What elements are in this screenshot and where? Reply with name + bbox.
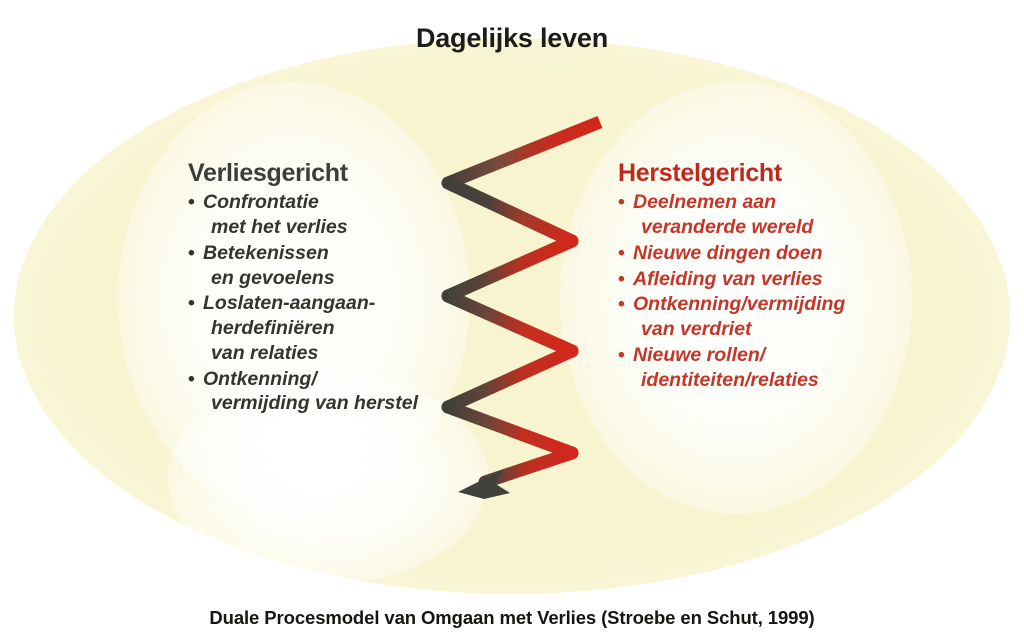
restoration-oriented-list: Deelnemen aan veranderde wereld Nieuwe d… [618,190,878,392]
list-item: Loslaten-aangaan- herdefiniëren van rela… [188,291,438,365]
list-item: Nieuwe dingen doen [618,241,878,266]
diagram-canvas: Dagelijks leven Verliesgericht Confronta… [0,0,1024,636]
bullet-line-2: identiteiten/relaties [633,368,878,393]
list-item: Ontkenning/vermijding van verdriet [618,292,878,342]
arrow-segment-7 [485,453,572,482]
restoration-oriented-heading: Herstelgericht [618,160,878,186]
arrow-segment-2 [448,183,572,241]
list-item: Betekenissen en gevoelens [188,241,438,291]
list-item: Afleiding van verlies [618,267,878,292]
list-item: Ontkenning/ vermijding van herstel [188,367,438,417]
bullet-line-2: vermijding van herstel [203,391,438,416]
bullet-line-2: met het verlies [203,215,438,240]
bullet-line-1: Confrontatie [203,191,319,213]
list-item: Confrontatie met het verlies [188,190,438,240]
bullet-line-1: Nieuwe rollen/ [633,344,765,366]
bullet-line-1: Ontkenning/vermijding [633,293,845,315]
arrow-segment-4 [448,296,572,351]
bullet-line-1: Ontkenning/ [203,368,317,390]
bullet-line-3: van relaties [203,341,438,366]
diagram-caption: Duale Procesmodel van Omgaan met Verlies… [0,607,1024,629]
bullet-line-1: Nieuwe dingen doen [633,242,823,264]
bullet-line-2: herdefiniëren [203,316,438,341]
arrow-segment-5 [448,351,572,407]
arrow-segment-1 [448,122,600,183]
restoration-oriented-column: Herstelgericht Deelnemen aan veranderde … [618,160,878,393]
bullet-line-1: Afleiding van verlies [633,268,823,290]
bullet-line-1: Betekenissen [203,242,329,264]
bullet-line-2: en gevoelens [203,266,438,291]
bullet-line-1: Loslaten-aangaan- [203,292,375,314]
loss-oriented-list: Confrontatie met het verlies Betekenisse… [188,190,438,416]
bullet-line-2: van verdriet [633,317,878,342]
loss-oriented-column: Verliesgericht Confrontatie met het verl… [188,160,438,417]
diagram-title: Dagelijks leven [0,23,1024,54]
list-item: Deelnemen aan veranderde wereld [618,190,878,240]
bullet-line-1: Deelnemen aan [633,191,776,213]
list-item: Nieuwe rollen/ identiteiten/relaties [618,343,878,393]
arrow-segment-3 [448,241,572,296]
arrow-segment-6 [448,407,572,453]
bullet-line-2: veranderde wereld [633,215,878,240]
loss-oriented-heading: Verliesgericht [188,160,438,186]
